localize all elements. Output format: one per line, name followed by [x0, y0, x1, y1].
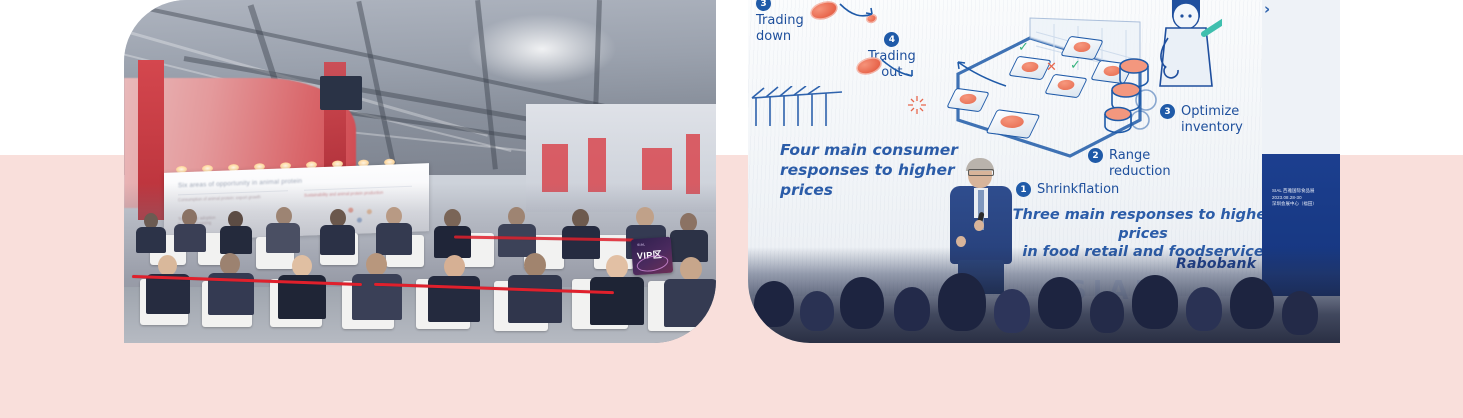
check-icon: ✓ [1070, 58, 1081, 73]
ceiling-truss [356, 1, 396, 168]
speaker-hand [956, 236, 966, 247]
bullet-label: Range reduction [1109, 148, 1171, 180]
panel-event-name: SIAL 西雅国际食品展 [1272, 188, 1334, 195]
panel-event-info: SIAL 西雅国际食品展 2023.08.28-30 深圳会展中心（福田） [1272, 188, 1334, 208]
conference-audience-photo: Six areas of opportunity in animal prote… [124, 0, 716, 343]
page-canvas: Six areas of opportunity in animal prote… [0, 0, 1463, 418]
bullet-number-badge: 2 [1088, 148, 1103, 163]
slide-bullet-range-reduction: 2 Range reduction [1088, 148, 1171, 180]
speaker-glasses [968, 169, 994, 176]
slide-bullet-shrinkflation: 1 Shrinkflation [1016, 182, 1119, 198]
cross-icon: ✕ [1046, 60, 1057, 75]
slide-bullet-trading-down: 3 Trading down [756, 0, 804, 45]
bullet-number-badge: 1 [1016, 182, 1031, 197]
bullet-label: Trading down [756, 13, 804, 45]
bullet-label: Optimize inventory [1181, 104, 1243, 136]
dark-hanging-banner [320, 76, 362, 110]
bullet-number-badge: 3 [756, 0, 771, 11]
stacked-cans-illustration [1100, 56, 1164, 134]
check-icon: ✓ [1018, 40, 1029, 55]
speaker-hand [974, 220, 984, 231]
bullet-number-badge: 3 [1160, 104, 1175, 119]
vip-sign-brand: SIAL [637, 242, 645, 247]
arrow-inventory-icon [952, 52, 1012, 92]
chevron-right-icon[interactable]: › [1264, 0, 1278, 16]
audience-silhouettes [748, 247, 1340, 343]
sparkle-icon [906, 94, 928, 116]
shelf-illustration [750, 86, 846, 132]
slide-bullet-optimize-inventory: 3 Optimize inventory [1160, 104, 1243, 136]
vip-area-sign: SIAL VIP区 [631, 237, 673, 276]
audience-crowd [124, 183, 716, 343]
arrow-trading-out-icon [880, 58, 926, 84]
arrow-trading-down-icon [838, 0, 884, 26]
bullet-number-badge: 4 [884, 32, 899, 47]
panel-event-venue: 深圳会展中心（福田） [1272, 201, 1334, 208]
bullet-label: Shrinkflation [1037, 182, 1119, 198]
rabobank-keynote-photo: 3 Trading down 4 Trading out [748, 0, 1340, 343]
